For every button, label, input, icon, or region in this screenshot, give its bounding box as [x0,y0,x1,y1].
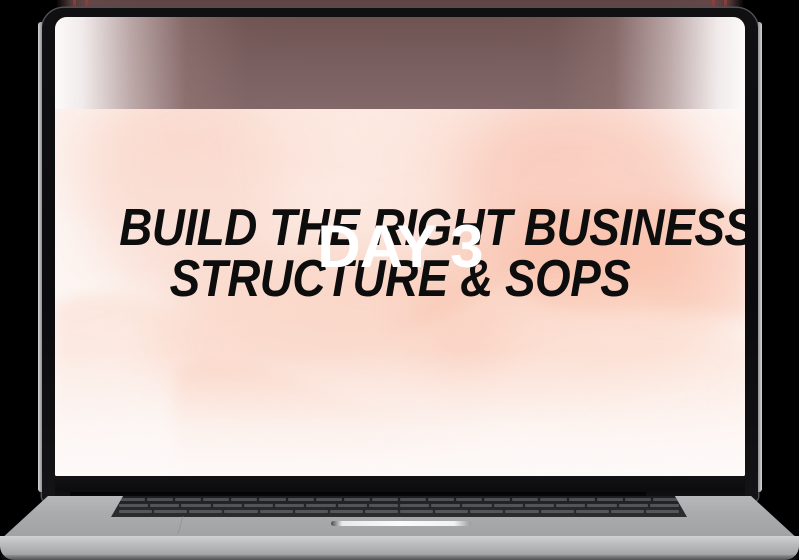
laptop-lid: DAY 3 BUILD THE RIGHT BUSINESS STRUCTURE… [42,8,758,502]
laptop-base [0,496,799,560]
keyboard-row [111,498,687,502]
lid-edge-right [758,22,762,492]
laptop-screen: DAY 3 BUILD THE RIGHT BUSINESS STRUCTURE… [55,17,745,476]
keyboard-row [111,510,687,514]
screenshot-stage: DAY 3 BUILD THE RIGHT BUSINESS STRUCTURE… [0,0,799,560]
laptop-keyboard [111,495,687,517]
keyboard-row [111,504,687,508]
slide-day-banner [55,17,745,109]
laptop-deck [0,496,799,540]
laptop-front-edge [0,536,799,560]
lid-edge-left [38,22,42,492]
background-bottom-fade [55,351,745,476]
slide-day-label: DAY 3 [55,217,745,277]
laptop-lid-release-notch [331,521,471,526]
